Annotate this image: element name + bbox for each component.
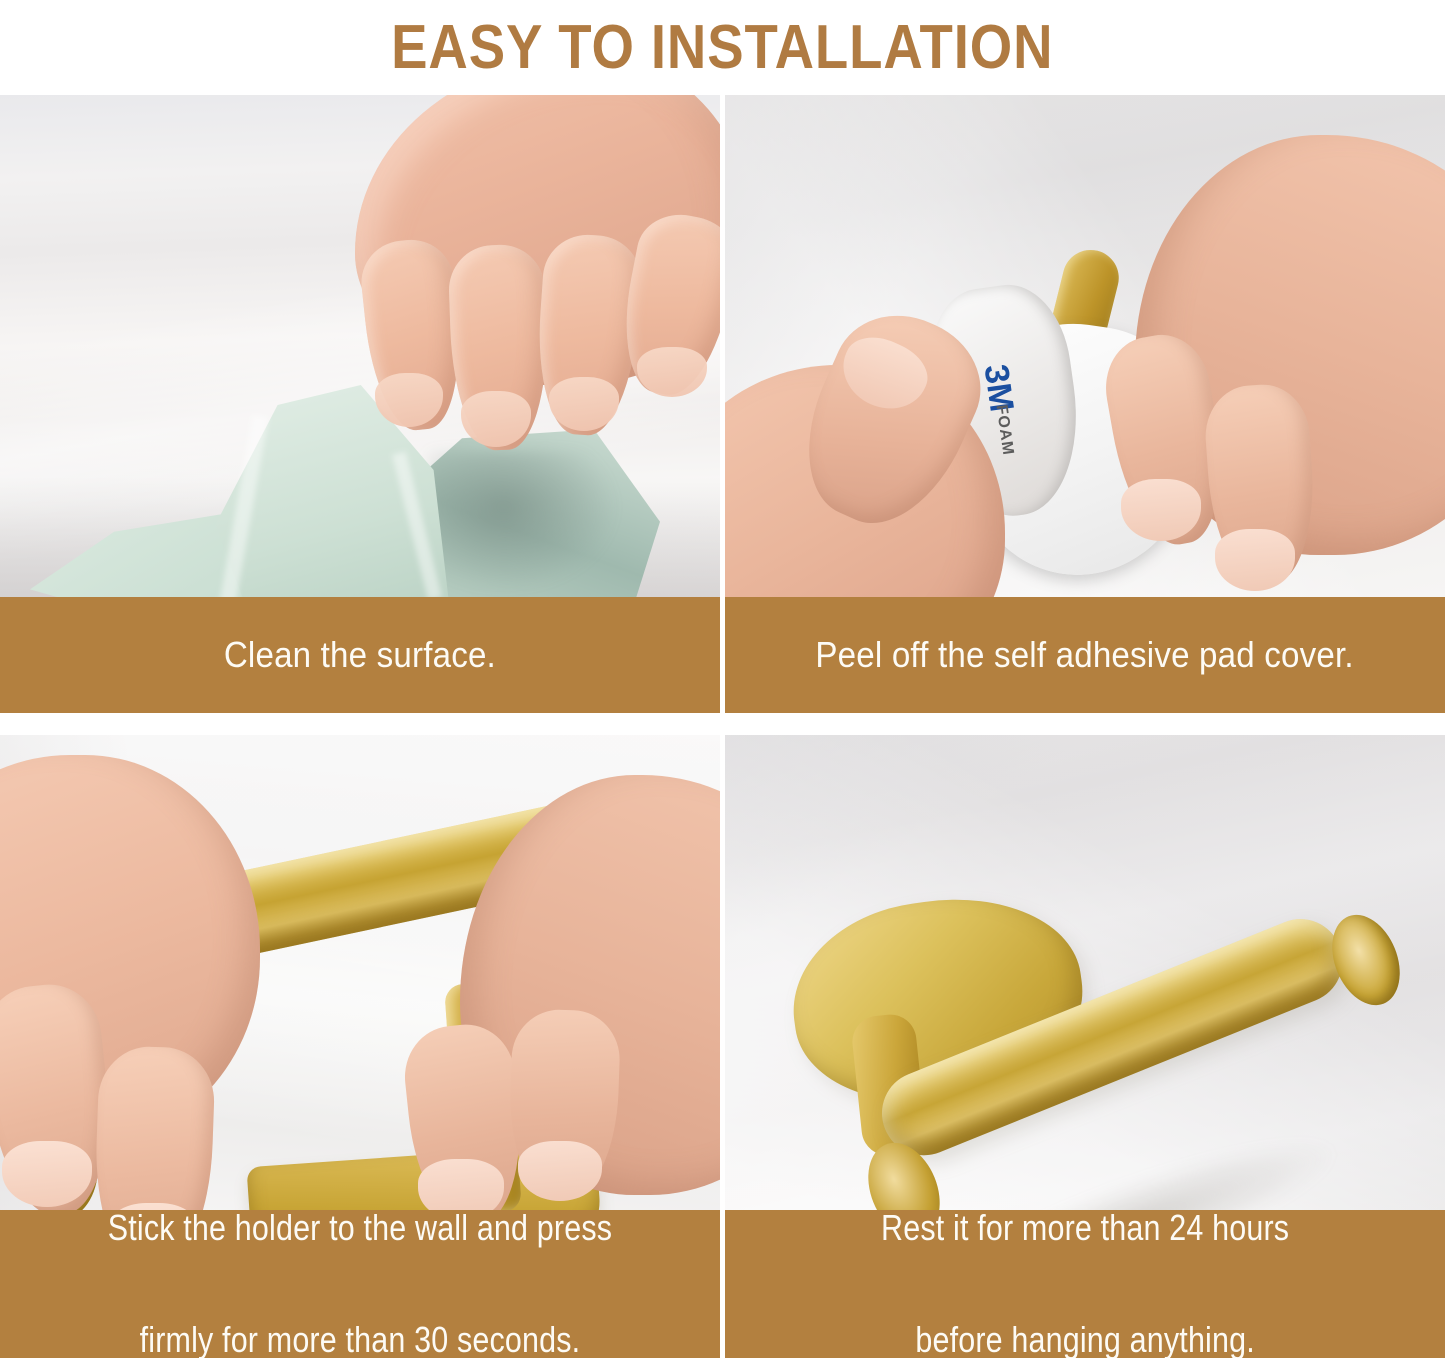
step-2-photo: 3M FOAM xyxy=(725,95,1445,597)
grid-gutter-horizontal xyxy=(0,713,720,735)
step-3-caption-line-2: firmly for more than 30 seconds. xyxy=(108,1312,612,1358)
steps-grid: Clean the surface. 3M FOAM xyxy=(0,95,1445,1358)
grid-gutter-horizontal-2 xyxy=(725,713,1445,735)
step-4-caption-line-1: Rest it for more than 24 hours xyxy=(881,1200,1289,1256)
step-1-photo xyxy=(0,95,720,597)
step-3-caption-line-1: Stick the holder to the wall and press xyxy=(108,1200,612,1256)
step-panel-1: Clean the surface. xyxy=(0,95,720,713)
step-4-photo xyxy=(725,735,1445,1210)
step-panel-2: 3M FOAM Peel off the self adhesive pad c… xyxy=(725,95,1445,713)
step-1-caption: Clean the surface. xyxy=(0,597,720,713)
step-panel-3: Stick the holder to the wall and press f… xyxy=(0,735,720,1358)
hand-right-icon xyxy=(400,775,720,1210)
hand-right-icon xyxy=(1085,135,1445,597)
step-4-caption-line-2: before hanging anything. xyxy=(881,1312,1289,1358)
paper-holder-icon xyxy=(765,855,1405,1210)
step-4-caption: Rest it for more than 24 hours before ha… xyxy=(725,1210,1445,1358)
step-2-caption: Peel off the self adhesive pad cover. xyxy=(725,597,1445,713)
step-3-caption: Stick the holder to the wall and press f… xyxy=(0,1210,720,1358)
hand-left-icon xyxy=(725,325,1085,597)
header-banner: EASY TO INSTALLATION xyxy=(0,0,1445,95)
step-3-photo xyxy=(0,735,720,1210)
page-title: EASY TO INSTALLATION xyxy=(391,17,1053,79)
step-panel-4: Rest it for more than 24 hours before ha… xyxy=(725,735,1445,1358)
hand-left-icon xyxy=(0,755,340,1210)
hand-icon xyxy=(315,95,720,525)
